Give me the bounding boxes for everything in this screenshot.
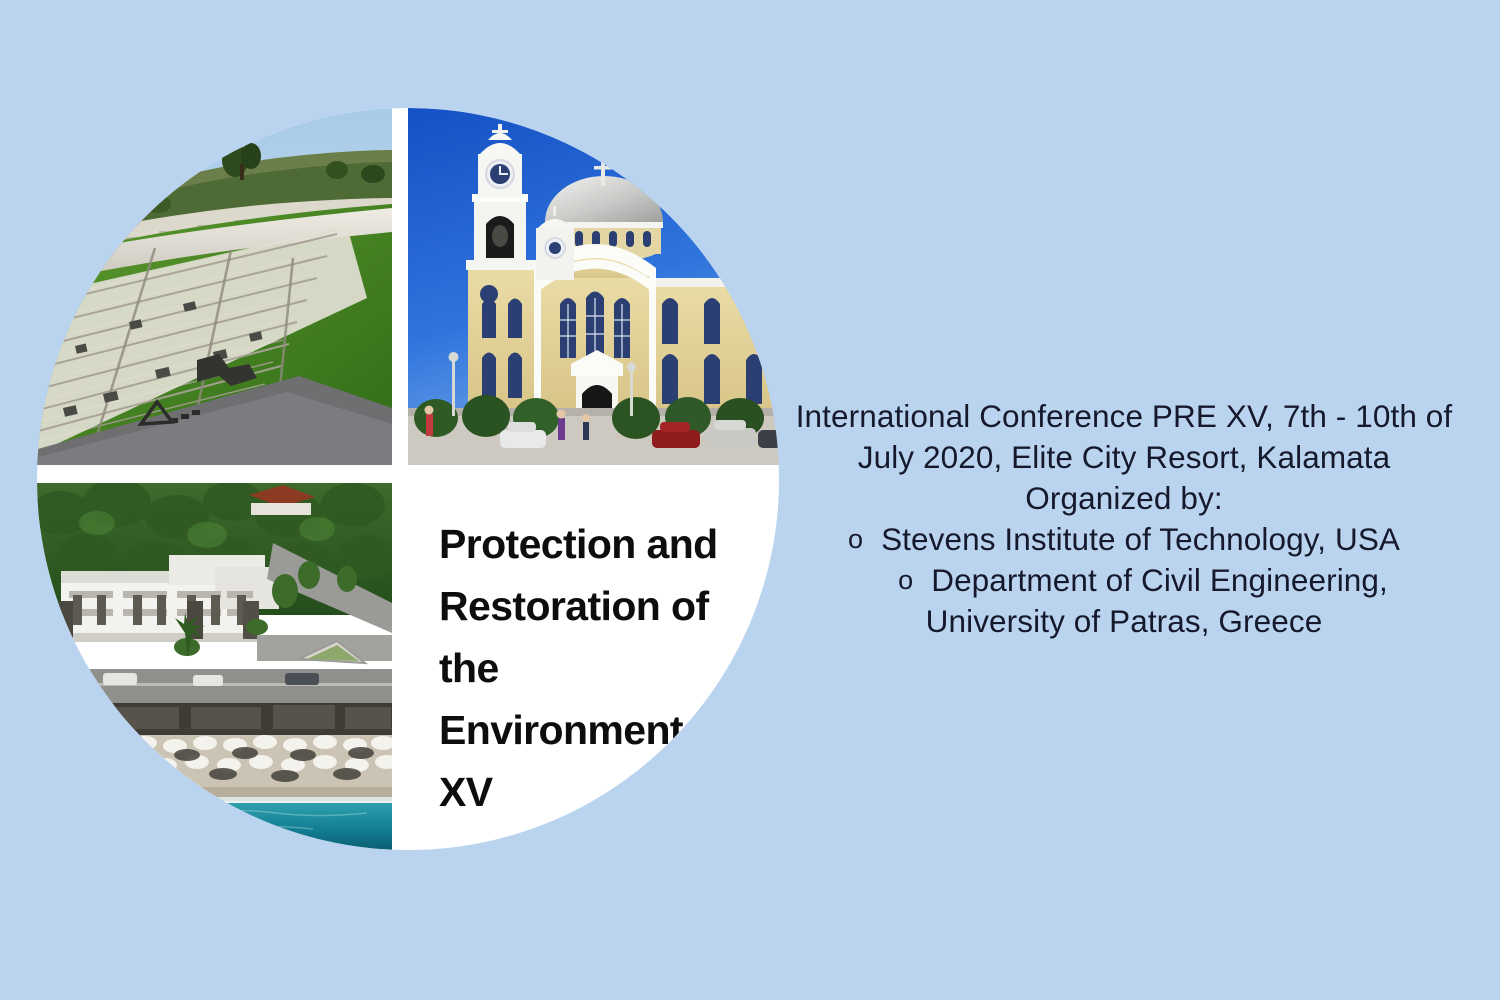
wordmark-line-2: Restoration of — [439, 575, 769, 637]
ancient-theatre-photo — [37, 108, 392, 465]
organizer-name-stevens: Stevens Institute of Technology, USA — [881, 519, 1400, 560]
wordmark-line-1: Protection and — [439, 513, 769, 575]
organized-by-label: Organized by: — [786, 478, 1462, 519]
conference-title-line-2: July 2020, Elite City Resort, Kalamata — [786, 437, 1462, 478]
logo-wordmark: Protection and Restoration of the Enviro… — [439, 513, 769, 823]
organizer-item-stevens: o Stevens Institute of Technology, USA — [786, 519, 1462, 560]
wordmark-line-5: XV — [439, 761, 769, 823]
organizer-item-patras: o Department of Civil Engineering, — [786, 560, 1462, 601]
logo-quadrant-beach-resort — [37, 483, 392, 850]
logo-quadrant-church — [408, 108, 779, 465]
church-photo — [408, 108, 779, 465]
organizer-name-patras-continuation: University of Patras, Greece — [786, 601, 1462, 642]
pre-xv-conference-logo: Protection and Restoration of the Enviro… — [37, 108, 779, 850]
logo-quadrant-wordmark: Protection and Restoration of the Enviro… — [408, 483, 779, 850]
wordmark-line-3: the — [439, 637, 769, 699]
bullet-circle-icon: o — [898, 560, 913, 601]
conference-title-line-1: International Conference PRE XV, 7th - 1… — [786, 396, 1462, 437]
logo-quadrant-ancient-theatre — [37, 108, 392, 465]
poster-canvas: Protection and Restoration of the Enviro… — [0, 0, 1500, 1000]
bullet-circle-icon: o — [848, 519, 863, 560]
conference-info-block: International Conference PRE XV, 7th - 1… — [786, 396, 1462, 642]
wordmark-line-4: Environment — [439, 699, 769, 761]
organizer-name-patras: Department of Civil Engineering, — [931, 560, 1388, 601]
beach-resort-photo — [37, 483, 392, 850]
